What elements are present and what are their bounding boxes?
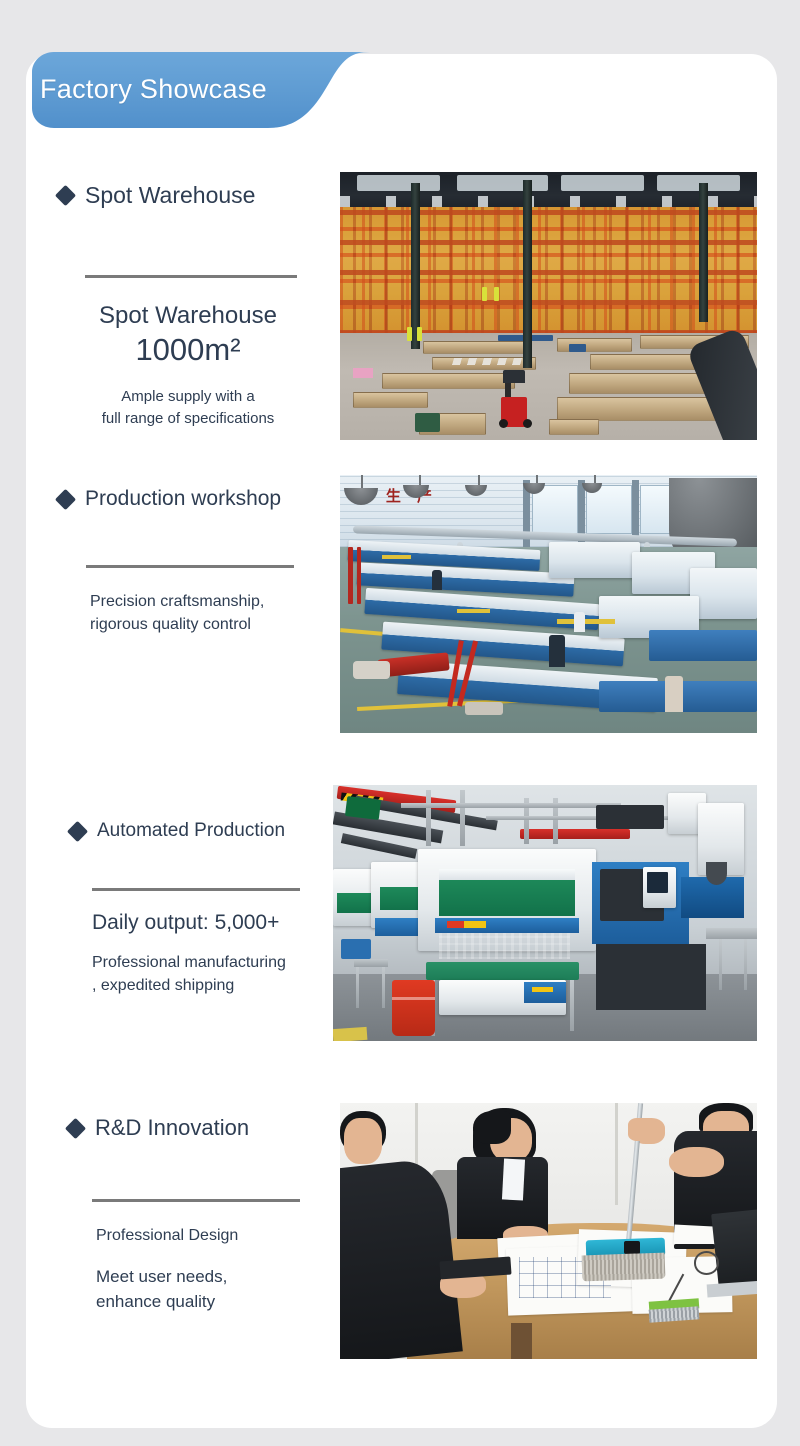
diamond-icon xyxy=(67,820,88,841)
divider xyxy=(85,275,297,278)
stat-value: Daily output: 5,000+ xyxy=(92,911,332,935)
diamond-icon xyxy=(55,185,76,206)
section-heading: Spot Warehouse xyxy=(85,182,255,209)
description-line-1: Precision craftsmanship, xyxy=(90,590,318,613)
description-line-2: , expedited shipping xyxy=(92,974,332,997)
section-heading: Automated Production xyxy=(97,820,285,842)
description-line-1: Meet user needs, xyxy=(96,1265,330,1290)
photo-rd-innovation xyxy=(340,1103,757,1359)
section-heading: Production workshop xyxy=(85,487,281,511)
stat-value: Professional Design xyxy=(96,1224,330,1247)
divider xyxy=(86,565,294,568)
factory-showcase-page: Factory Showcase Spot Warehouse Spot War… xyxy=(0,0,800,1446)
description-line-1: Ample supply with a xyxy=(58,386,318,408)
divider xyxy=(92,1199,300,1202)
section-spot-warehouse-text: Spot Warehouse Spot Warehouse 1000m² Amp… xyxy=(58,182,318,430)
section-automated-production-text: Automated Production Daily output: 5,000… xyxy=(70,820,332,997)
diamond-icon xyxy=(65,1117,86,1138)
photo-automated-production xyxy=(333,785,757,1041)
section-heading-row: Automated Production xyxy=(70,820,332,842)
section-heading-row: R&D Innovation xyxy=(68,1115,330,1141)
section-production-workshop-text: Production workshop Precision craftsmans… xyxy=(58,487,318,636)
section-heading-row: Production workshop xyxy=(58,487,318,511)
stat-value: 1000m² xyxy=(58,332,318,368)
description-line-1: Professional manufacturing xyxy=(92,951,332,974)
description-line-2: full range of specifications xyxy=(58,408,318,430)
stat-label: Spot Warehouse xyxy=(58,302,318,330)
description-line-2: rigorous quality control xyxy=(90,613,318,636)
photo-spot-warehouse xyxy=(340,172,757,440)
page-title: Factory Showcase xyxy=(40,74,267,105)
section-heading: R&D Innovation xyxy=(95,1115,249,1141)
description-line-2: enhance quality xyxy=(96,1290,330,1315)
section-heading-row: Spot Warehouse xyxy=(58,182,318,209)
divider xyxy=(92,888,300,891)
section-rd-innovation-text: R&D Innovation Professional Design Meet … xyxy=(68,1115,330,1314)
diamond-icon xyxy=(55,488,76,509)
photo-production-workshop: 生 产 xyxy=(340,475,757,733)
